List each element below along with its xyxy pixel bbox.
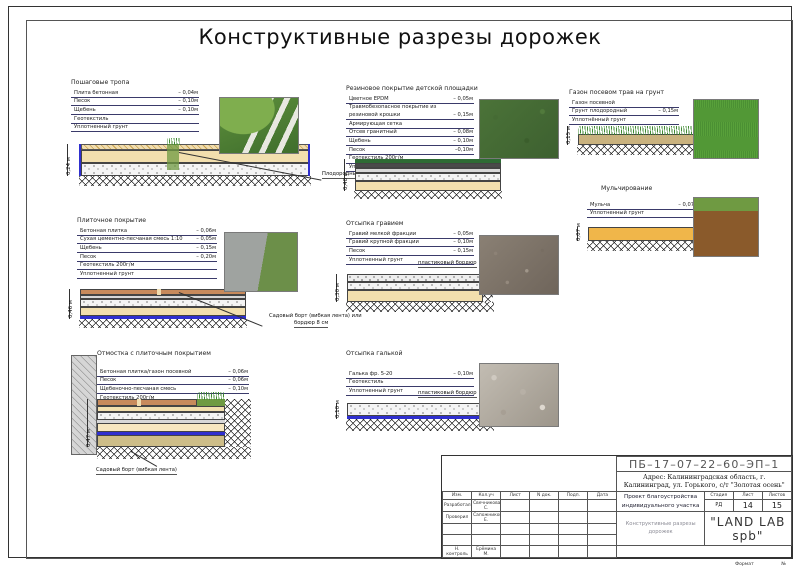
section-title: Пошаговые тропа — [71, 79, 199, 86]
tile-path-photo — [224, 232, 298, 292]
legend-row: Уплотненный грунт — [71, 123, 199, 132]
drawing-otsypka-graviem: 0,30 м пластиковый бордюр — [346, 272, 494, 312]
section-mulchirovanie: Мульчирование — [601, 185, 652, 195]
section-title: Резиновое покрытие детской площадки — [346, 85, 478, 92]
role-name-4: Ерёмина М. — [472, 546, 501, 558]
legend-row: Армирующая сетка — [346, 120, 474, 129]
layer-soil-pocket — [167, 144, 179, 170]
annotation-note: пластиковый бордюр — [418, 390, 477, 398]
layer-rubber-crumb — [355, 163, 501, 168]
drawing-plitochnoe-pokrytie: 0,46 м Садовый борт (вибкая лента) или б… — [79, 288, 247, 328]
legend-row: Бетонная плитка– 0,06м — [77, 227, 217, 235]
grass-tuft-icon — [167, 138, 180, 145]
dimension-label: 0,47 м — [86, 429, 92, 447]
col-koluch: Кол.уч — [472, 491, 501, 500]
dimension-label: 0,30 м — [335, 283, 341, 301]
drawing-rezinovoe-pokrytie: 0,48 м — [354, 159, 502, 199]
dimension-label: 0,48 м — [343, 172, 349, 190]
legend-row: Травмобезопасное покрытие из — [346, 103, 474, 111]
layer-geotextile — [97, 420, 225, 423]
section-gazon-posevom-trav: Газон посевом трав на грунт Газон посевн… — [569, 89, 679, 125]
section-title: Отсыпка галькой — [346, 350, 403, 357]
lawn-photo — [693, 99, 759, 159]
role-name-1: Сапожникова Е. — [472, 512, 501, 524]
legend-row: Щебень– 0,15м — [77, 244, 217, 253]
annotation-note-2: бордюр 8 см — [294, 320, 328, 328]
dimension-label: 0,07 м — [576, 223, 582, 241]
drawing-sheet: Конструктивные разрезы дорожек Пошаговые… — [8, 6, 792, 558]
mulch-photo — [693, 197, 759, 257]
legend-row: Галька фр. 5-20– 0,10м — [346, 370, 474, 378]
layer-compacted-soil — [346, 419, 494, 431]
project-name: Проект благоустройства индивидуального у… — [617, 491, 704, 512]
legend-row: Песок–0,10м — [346, 146, 474, 155]
tile-joint — [157, 289, 161, 295]
annotation-note: Садовый борт (вибкая лента) или — [269, 313, 362, 320]
page-title: Конструктивные разрезы дорожек — [9, 25, 791, 49]
role-label-1: Проверил — [443, 512, 472, 524]
layer-waterproofing — [97, 432, 225, 435]
sheet-value: 14 — [733, 500, 762, 512]
sheet-header: Лист — [733, 491, 762, 500]
col-izm: Изм. — [443, 491, 472, 500]
legend-row: Песок– 0,15м — [346, 247, 474, 256]
legend-row: Гравий мелкой фракции– 0,05м — [346, 230, 474, 238]
legend-row: Гравий крупной фракции– 0,10м — [346, 238, 474, 247]
legend-row: Плита бетонная– 0,04м — [71, 89, 199, 97]
legend-row: Уплотненный грунт — [587, 209, 699, 218]
layer-granite-screening — [355, 168, 501, 173]
role-name-3 — [472, 535, 501, 546]
layer-compacted-soil — [97, 447, 251, 459]
layer-crushed-stone — [355, 173, 501, 181]
legend-row: резиновой крошки– 0,15м — [346, 111, 474, 119]
legend-row: Грунт плодородный– 0,15м — [569, 107, 679, 116]
layer-compacted-soil — [587, 241, 705, 251]
title-block-table: ПБ–17–07–22–60–ЭП–1 Адрес: Калининградск… — [442, 456, 792, 558]
section-otsypka-galkoy: Отсыпка галькой — [346, 350, 403, 360]
role-label-2 — [443, 524, 472, 535]
layer-sand — [347, 290, 483, 302]
grass-layer-icon — [578, 126, 694, 135]
role-label-0: Разработал — [443, 500, 472, 512]
legend-row: Щебень– 0,10м — [346, 137, 474, 146]
layer-pebble — [347, 403, 483, 416]
role-name-0: Свечникова С. — [472, 500, 501, 512]
legend-row: Геотекстиль — [71, 115, 199, 124]
layer-epdm — [355, 159, 501, 163]
legend-row: Песок– 0,10м — [71, 97, 199, 106]
legend-row: Геотекстиль — [346, 378, 474, 387]
legend-row: Песок– 0,20м — [77, 253, 217, 262]
edge-right — [308, 144, 310, 176]
dimension-label: 0,10 м — [335, 400, 341, 418]
stage-header: Стадия — [704, 491, 733, 500]
grass-tuft-icon — [197, 392, 225, 400]
layer-crushed-sand-mix — [97, 412, 225, 420]
layer-fine-gravel — [347, 274, 483, 282]
legend-row: Уплотнённый грунт — [569, 116, 679, 125]
side-soil — [225, 399, 251, 447]
steps-in-lawn-photo — [219, 97, 299, 154]
drawing-otmostka: 0,47 м Садовый борт (вибкая лента) — [71, 355, 251, 459]
building-wall — [71, 355, 97, 455]
layer-legend: Газон посевной Грунт плодородный– 0,15м … — [569, 99, 679, 125]
drawing-mulchirovanie: 0,07 м — [587, 225, 705, 251]
section-title: Плиточное покрытие — [77, 217, 217, 224]
layer-sand-upper — [97, 406, 225, 412]
layer-legend: Бетонная плитка– 0,06м Сухая цементно-пе… — [77, 227, 217, 279]
layer-concrete-tile — [80, 289, 246, 295]
layer-compacted-soil — [577, 145, 695, 155]
section-title: Мульчирование — [601, 185, 652, 192]
section-poshagovye-tropa: Пошаговые тропа Плита бетонная– 0,04м Пе… — [71, 79, 199, 132]
col-data: Дата — [588, 491, 617, 500]
legend-row: Щебень– 0,10м — [71, 106, 199, 115]
layer-lawn-strip — [197, 399, 225, 406]
dimension-label: 0,24 м — [66, 157, 72, 175]
annotation-note: пластиковый бордюр — [418, 260, 477, 268]
legend-row: Геотекстиль 200г/м — [77, 261, 217, 270]
layer-sand-lower — [97, 423, 225, 432]
sheets-header: Листов — [762, 491, 791, 500]
legend-row: Мульча– 0,07м — [587, 201, 699, 209]
layer-legend: Плита бетонная– 0,04м Песок– 0,10м Щебен… — [71, 89, 199, 132]
col-ndok: N док. — [530, 491, 559, 500]
title-block: ПБ–17–07–22–60–ЭП–1 Адрес: Калининградск… — [441, 455, 793, 559]
stage-value: РД — [704, 500, 733, 512]
layer-cement-sand-mix — [80, 295, 246, 299]
col-podp: Подп. — [559, 491, 588, 500]
dimension-label: 0,46 м — [68, 300, 74, 318]
layer-compacted-soil — [354, 191, 502, 199]
legend-row: Сухая цементно-песчаная смесь 1:10– 0,05… — [77, 235, 217, 244]
layer-compacted-soil — [79, 319, 247, 328]
layer-legend: Мульча– 0,07м Уплотненный грунт — [587, 201, 699, 218]
section-title: Газон посевом трав на грунт — [569, 89, 679, 96]
layer-geotextile — [347, 416, 483, 419]
drawing-code: ПБ–17–07–22–60–ЭП–1 — [617, 457, 792, 472]
sheets-value: 15 — [762, 500, 791, 512]
layer-crushed-stone — [81, 163, 309, 176]
layer-clay — [97, 435, 225, 447]
tile-joint — [137, 399, 141, 406]
drawing-gazon-posevom-trav: 0,15 м — [577, 125, 695, 155]
section-title: Отсыпка гравием — [346, 220, 474, 227]
rubber-surface-photo — [479, 99, 559, 159]
sheet-name: Конструктивные разрезы дорожек — [617, 512, 704, 546]
role-label-4: Н. контроль — [443, 546, 472, 558]
layer-fertile-soil — [578, 134, 694, 145]
layer-mulch — [588, 227, 700, 241]
layer-compacted-soil — [346, 302, 494, 312]
layer-coarse-gravel — [347, 282, 483, 290]
legend-row: Газон посевной — [569, 99, 679, 107]
legend-row: Отсев гранитный– 0,08м — [346, 128, 474, 137]
project-address: Адрес: Калининградская область, г. Калин… — [617, 472, 792, 492]
layer-sand — [355, 181, 501, 191]
section-otsypka-graviem: Отсыпка гравием Гравий мелкой фракции– 0… — [346, 220, 474, 265]
layer-concrete-tile — [97, 399, 197, 406]
legend-row: Уплотненный грунт — [77, 270, 217, 279]
edge-left — [79, 144, 81, 176]
role-name-2 — [472, 524, 501, 535]
gravel-photo — [479, 235, 559, 295]
pebble-photo — [479, 363, 559, 427]
layer-geotextile — [80, 316, 246, 319]
col-list: Лист — [501, 491, 530, 500]
layer-crushed-stone — [80, 299, 246, 307]
section-plitochnoe-pokrytie: Плиточное покрытие Бетонная плитка– 0,06… — [77, 217, 217, 279]
company-name: "LAND LAB spb" — [704, 512, 791, 546]
annotation-note: Садовый борт (вибкая лента) — [96, 467, 177, 475]
legend-row: Цветное EPDM– 0,05м — [346, 95, 474, 103]
dimension-label: 0,15 м — [566, 126, 572, 144]
drawing-otsypka-galkoy: 0,10 м пластиковый бордюр — [346, 399, 494, 431]
layer-compacted-soil — [79, 176, 311, 186]
role-label-3 — [443, 535, 472, 546]
